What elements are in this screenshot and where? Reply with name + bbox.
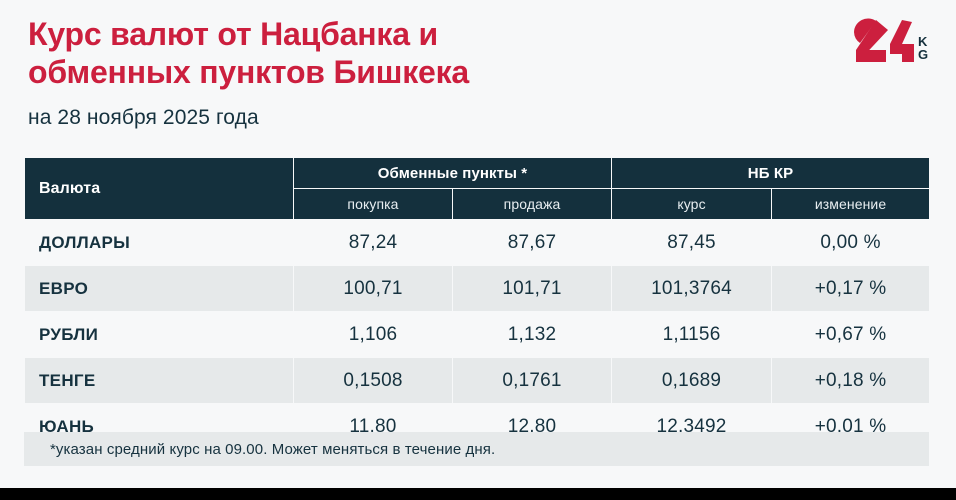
column-header-currency: Валюта: [25, 158, 294, 220]
table-row: ДОЛЛАРЫ 87,24 87,67 87,45 0,00 %: [25, 220, 930, 266]
table-row: РУБЛИ 1,106 1,132 1,1156 +0,67 %: [25, 312, 930, 358]
svg-text:G: G: [918, 47, 928, 62]
cell-sell: 87,67: [453, 220, 612, 266]
cell-sell: 0,1761: [453, 358, 612, 404]
cell-change: +0,17 %: [772, 266, 930, 312]
logo-icon: K G: [846, 18, 938, 74]
page-title: Курс валют от Нацбанка и обменных пункто…: [28, 16, 728, 92]
brand-logo-24kg: K G: [846, 18, 938, 74]
cell-change: +0,18 %: [772, 358, 930, 404]
table-row: ЕВРО 100,71 101,71 101,3764 +0,17 %: [25, 266, 930, 312]
cell-rate: 101,3764: [612, 266, 772, 312]
bottom-strip: [0, 488, 956, 500]
table-row: ТЕНГЕ 0,1508 0,1761 0,1689 +0,18 %: [25, 358, 930, 404]
cell-buy: 0,1508: [294, 358, 453, 404]
column-header-buy: покупка: [294, 189, 453, 220]
cell-buy: 1,106: [294, 312, 453, 358]
currency-rates-table: Валюта Обменные пункты * НБ КР покупка п…: [24, 157, 930, 450]
group-header-exchange-offices: Обменные пункты *: [294, 158, 612, 189]
page-header: Курс валют от Нацбанка и обменных пункто…: [28, 16, 728, 130]
cell-buy: 100,71: [294, 266, 453, 312]
table-header: Валюта Обменные пункты * НБ КР покупка п…: [25, 158, 930, 220]
column-header-change: изменение: [772, 189, 930, 220]
cell-change: 0,00 %: [772, 220, 930, 266]
cell-change: +0,67 %: [772, 312, 930, 358]
column-header-rate: курс: [612, 189, 772, 220]
footnote-text: *указан средний курс на 09.00. Может мен…: [24, 441, 495, 458]
group-header-nbkr: НБ КР: [612, 158, 930, 189]
cell-currency: РУБЛИ: [25, 312, 294, 358]
rates-table-container: Валюта Обменные пункты * НБ КР покупка п…: [24, 157, 929, 450]
cell-currency: ЕВРО: [25, 266, 294, 312]
cell-rate: 87,45: [612, 220, 772, 266]
cell-sell: 101,71: [453, 266, 612, 312]
cell-buy: 87,24: [294, 220, 453, 266]
cell-rate: 1,1156: [612, 312, 772, 358]
page-subtitle: на 28 ноября 2025 года: [28, 106, 728, 130]
cell-sell: 1,132: [453, 312, 612, 358]
cell-currency: ДОЛЛАРЫ: [25, 220, 294, 266]
column-header-sell: продажа: [453, 189, 612, 220]
cell-currency: ТЕНГЕ: [25, 358, 294, 404]
table-header-row-groups: Валюта Обменные пункты * НБ КР: [25, 158, 930, 189]
table-footnote: *указан средний курс на 09.00. Может мен…: [24, 432, 929, 466]
table-body: ДОЛЛАРЫ 87,24 87,67 87,45 0,00 % ЕВРО 10…: [25, 220, 930, 450]
cell-rate: 0,1689: [612, 358, 772, 404]
